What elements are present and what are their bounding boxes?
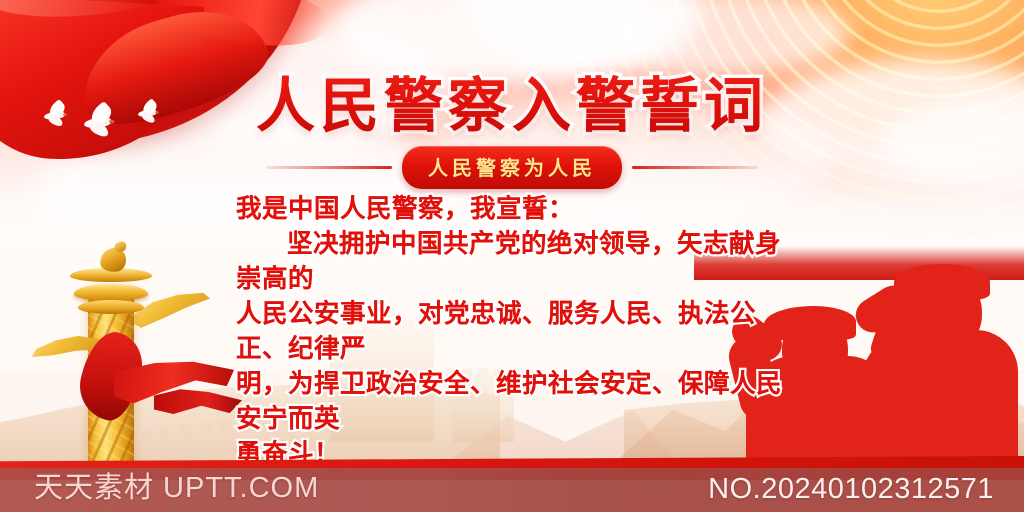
huabiao-cap <box>74 284 148 301</box>
footer-bar: 天天素材 UPTT.COM NO.20240102312571 <box>0 456 1024 512</box>
oath-line: 人民公安事业，对党忠诚、服务人民、执法公正、纪律严 <box>236 297 798 367</box>
oath-line: 坚决拥护中国共产党的绝对领导，矢志献身崇高的 <box>236 227 798 297</box>
poster-canvas: 人民警察入警誓词 人民警察入警誓词 人民警察为人民 我是中国人民警察，我宣誓： … <box>0 0 1024 512</box>
watermark-text: 天天素材 UPTT.COM <box>34 464 319 506</box>
officer-body <box>860 330 1018 476</box>
asset-number: NO.20240102312571 <box>708 473 994 506</box>
divider-line-left <box>266 166 392 169</box>
oath-line: 我是中国人民警察，我宣誓： <box>236 192 798 227</box>
divider-line-right <box>632 166 758 169</box>
huabiao-cap <box>78 300 144 314</box>
poster-title-outline: 人民警察入警誓词 <box>0 58 1024 143</box>
subtitle-badge: 人民警察为人民 <box>402 146 622 189</box>
oath-line: 明，为捍卫政治安全、维护社会安定、保障人民安宁而英 <box>236 367 798 437</box>
huabiao-column-icon <box>40 256 180 476</box>
red-ribbon-icon <box>82 332 232 424</box>
oath-text-outline: 我是中国人民警察，我宣誓： 坚决拥护中国共产党的绝对领导，矢志献身崇高的 人民公… <box>236 192 798 472</box>
subtitle-badge-row: 人民警察为人民 <box>0 146 1024 189</box>
